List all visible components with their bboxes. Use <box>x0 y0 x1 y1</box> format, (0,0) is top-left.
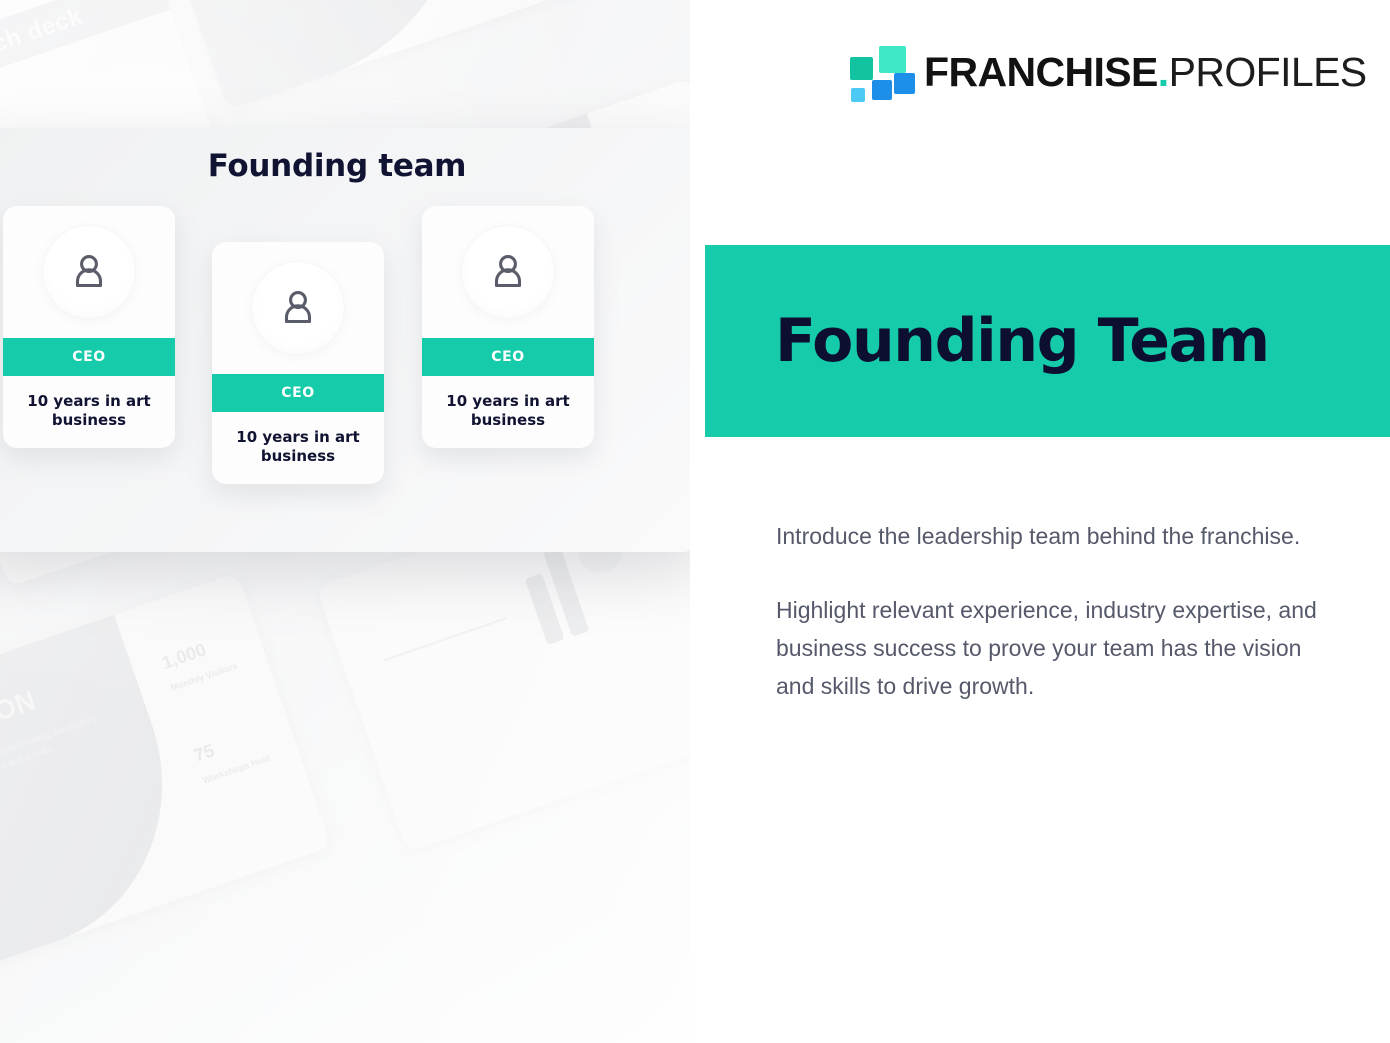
deck-cover-band <box>0 0 170 120</box>
avatar-circle <box>42 225 136 319</box>
founder-note: 10 years in art business <box>3 376 175 448</box>
deck-background-pane: MARKET Rising demand for creative experi… <box>0 0 690 1043</box>
deck-slide-problem: THE PROBLEM Many individuals and communi… <box>147 0 626 110</box>
person-icon <box>276 286 320 330</box>
avatar <box>3 206 175 338</box>
founder-role-badge: CEO <box>422 338 594 376</box>
avatar-circle <box>461 225 555 319</box>
section-title-band: Founding Team <box>705 245 1390 437</box>
founder-note: 10 years in art business <box>212 412 384 484</box>
logo-square-4 <box>894 73 915 94</box>
founder-note: 10 years in art business <box>422 376 594 448</box>
founder-card[interactable]: CEO 10 years in art business <box>212 242 384 484</box>
person-icon <box>486 250 530 294</box>
logo-squares-icon <box>848 43 906 101</box>
logo-square-2 <box>879 46 906 73</box>
brand-logo[interactable]: FRANCHISE.PROFILES <box>848 42 1367 102</box>
founding-team-preview-panel: Founding team CEO 10 years in art busine… <box>0 128 690 552</box>
content-pane: FRANCHISE.PROFILES Founding Team Introdu… <box>690 0 1390 1043</box>
logo-wordmark: FRANCHISE.PROFILES <box>924 52 1367 93</box>
deck-metric-value: 75 <box>191 740 217 766</box>
logo-word-bold: FRANCHISE <box>924 49 1158 95</box>
founder-card[interactable]: CEO 10 years in art business <box>422 206 594 448</box>
logo-dot: . <box>1158 49 1169 95</box>
logo-square-5 <box>851 88 865 102</box>
avatar <box>212 242 384 374</box>
section-description: Introduce the leadership team behind the… <box>776 518 1346 706</box>
logo-square-3 <box>872 80 892 100</box>
deck-rule <box>383 617 507 661</box>
deck-blob <box>147 0 503 110</box>
page-title: Founding Team <box>775 245 1269 437</box>
logo-square-1 <box>850 57 873 80</box>
deck-slide-traction: TRACTION Significant milestones demonstr… <box>0 572 331 976</box>
founder-role-badge: CEO <box>212 374 384 412</box>
person-icon <box>67 250 111 294</box>
slide-preview-screen: MARKET Rising demand for creative experi… <box>0 0 1390 1043</box>
avatar <box>422 206 594 338</box>
description-paragraph-1: Introduce the leadership team behind the… <box>776 518 1346 556</box>
description-paragraph-2: Highlight relevant experience, industry … <box>776 592 1346 706</box>
avatar-circle <box>251 261 345 355</box>
deck-metric-value: 1,000 <box>159 639 208 674</box>
founding-team-card-list: CEO 10 years in art business CEO <box>0 206 674 536</box>
preview-panel-title: Founding team <box>0 148 674 184</box>
founder-role-badge: CEO <box>3 338 175 376</box>
founder-card[interactable]: CEO 10 years in art business <box>3 206 175 448</box>
logo-word-light: PROFILES <box>1169 49 1367 95</box>
